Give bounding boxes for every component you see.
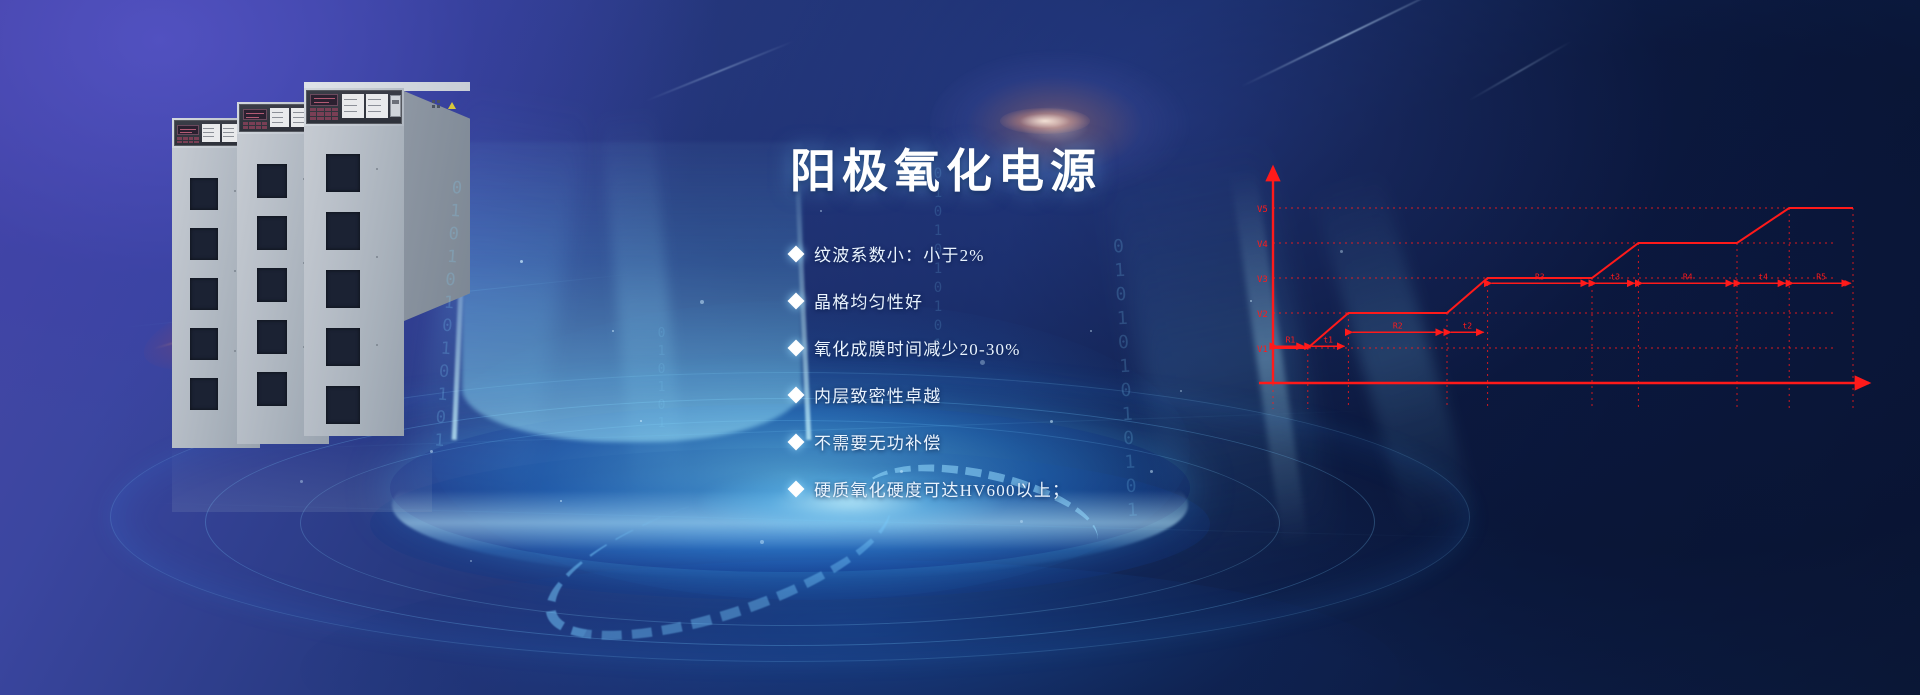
diamond-bullet-icon xyxy=(788,339,805,356)
lcd-display xyxy=(177,125,199,135)
feature-text: 晶格均匀性好 xyxy=(814,288,923,313)
floor-glow xyxy=(300,560,1400,695)
binary-decor-4: 010101 xyxy=(654,326,669,434)
feature-text: 不需要无功补偿 xyxy=(814,429,941,454)
keypad[interactable] xyxy=(310,108,338,120)
particle xyxy=(700,300,704,304)
product-banner: 010101010101 0101010101 010101010101 010… xyxy=(0,0,1920,695)
svg-text:t4: t4 xyxy=(1758,272,1768,281)
power-supply-cabinets xyxy=(172,82,482,452)
sky-streak-2 xyxy=(645,40,794,102)
lcd-display xyxy=(243,109,267,120)
particle xyxy=(760,540,764,544)
diamond-bullet-icon xyxy=(788,433,805,450)
light-beam-center xyxy=(600,108,687,511)
particle xyxy=(612,330,614,332)
svg-text:V3: V3 xyxy=(1257,275,1268,285)
warning-triangle-icon xyxy=(448,102,456,109)
sky-streak-3 xyxy=(1468,40,1573,102)
diamond-bullet-icon xyxy=(788,480,805,497)
svg-text:t2: t2 xyxy=(1462,321,1472,330)
svg-text:V4: V4 xyxy=(1257,240,1268,250)
svg-text:R2: R2 xyxy=(1393,321,1403,330)
feature-item: 硬质氧化硬度可达HV600以上； xyxy=(790,476,1350,501)
feature-text: 内层致密性卓越 xyxy=(814,382,941,407)
svg-text:V2: V2 xyxy=(1257,310,1268,320)
feature-item: 不需要无功补偿 xyxy=(790,429,1350,454)
svg-text:V5: V5 xyxy=(1257,205,1268,215)
svg-text:R5: R5 xyxy=(1816,272,1826,281)
svg-text:R1: R1 xyxy=(1286,335,1296,344)
svg-text:t1: t1 xyxy=(1323,335,1333,344)
diamond-bullet-icon xyxy=(788,386,805,403)
feature-text: 硬质氧化硬度可达HV600以上； xyxy=(814,476,1070,501)
particle xyxy=(520,260,523,263)
feature-text: 氧化成膜时间减少20-30% xyxy=(814,335,1021,360)
keypad[interactable] xyxy=(243,122,267,129)
chart-geometry: V1V2V3V4V5R1t1R2t2R3t3R4t4R5 xyxy=(1257,167,1869,409)
svg-text:R4: R4 xyxy=(1683,272,1693,281)
svg-text:V1: V1 xyxy=(1257,345,1268,355)
voltage-ramp-chart: V1V2V3V4V5R1t1R2t2R3t3R4t4R5 xyxy=(1255,155,1875,415)
lcd-display xyxy=(310,94,338,106)
svg-text:R3: R3 xyxy=(1535,272,1545,281)
diamond-bullet-icon xyxy=(788,245,805,262)
diamond-bullet-icon xyxy=(788,292,805,309)
cabinet-reflection xyxy=(172,442,432,512)
particle xyxy=(640,420,642,422)
particle xyxy=(560,500,562,502)
lens-flare-core xyxy=(1000,108,1090,134)
svg-text:t3: t3 xyxy=(1610,272,1620,281)
chart-svg: V1V2V3V4V5R1t1R2t2R3t3R4t4R5 xyxy=(1255,155,1875,415)
pedestal-beam xyxy=(462,142,802,442)
particle xyxy=(470,560,472,562)
sky-streak-1 xyxy=(1241,0,1449,87)
feature-text: 纹波系数小：小于2% xyxy=(814,241,985,266)
keypad[interactable] xyxy=(177,137,199,143)
